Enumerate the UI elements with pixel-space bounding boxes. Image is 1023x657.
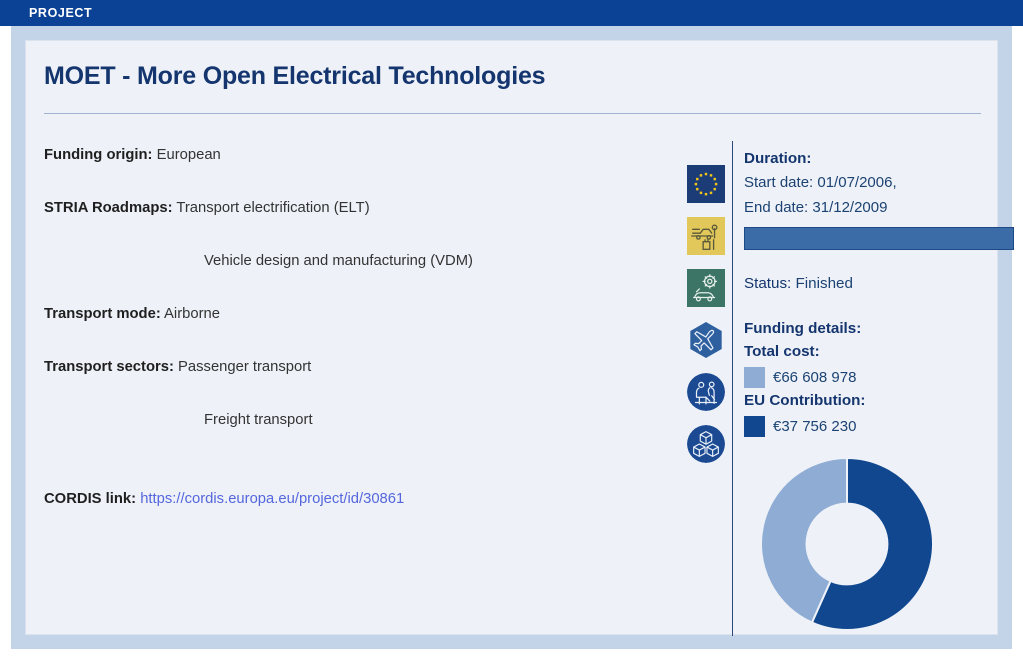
legend-row-eu-contribution: €37 756 230 xyxy=(744,414,994,438)
vehicle-design-icon xyxy=(687,269,725,307)
eu-contribution-value: €37 756 230 xyxy=(773,418,856,435)
duration-end-date: End date: 31/12/2009 xyxy=(744,195,994,220)
funding-donut-chart xyxy=(753,456,943,636)
detail-value: European xyxy=(157,147,221,163)
eu-contribution-label: EU Contribution: xyxy=(744,389,994,412)
detail-label: Funding origin: xyxy=(44,147,152,163)
cordis-link-label: CORDIS link: xyxy=(44,491,136,507)
detail-value: Passenger transport xyxy=(178,359,311,375)
detail-row-stria-roadmaps: STRIA Roadmaps: Transport electrificatio… xyxy=(44,200,689,253)
donut-chart-svg xyxy=(753,456,943,636)
detail-row-transport-sectors: Transport sectors: Passenger transport xyxy=(44,359,689,412)
duration-start-date: Start date: 01/07/2006, xyxy=(744,170,994,195)
airplane-icon xyxy=(687,321,725,359)
project-details-list: Funding origin: European STRIA Roadmaps:… xyxy=(44,147,689,465)
icon-cell-vehicle-design xyxy=(681,267,727,319)
legend-row-total-cost: €66 608 978 xyxy=(744,365,994,389)
icon-cell-passenger-transport xyxy=(681,371,727,423)
detail-row-transport-sectors-secondary: Freight transport xyxy=(44,412,689,465)
freight-transport-icon xyxy=(687,425,725,463)
project-card-page: PROJECT MOET - More Open Electrical Tech… xyxy=(0,0,1023,657)
summary-column: Duration: Start date: 01/07/2006, End da… xyxy=(744,147,994,438)
transport-electrification-icon xyxy=(687,217,725,255)
status-label: Status: xyxy=(744,275,791,292)
detail-label: STRIA Roadmaps: xyxy=(44,200,173,216)
detail-label: Transport sectors: xyxy=(44,359,174,375)
total-cost-swatch xyxy=(744,367,765,388)
detail-value: Freight transport xyxy=(204,412,313,428)
status-row: Status: Finished xyxy=(744,272,994,295)
detail-row-transport-mode: Transport mode: Airborne xyxy=(44,306,689,359)
cordis-link-url[interactable]: https://cordis.europa.eu/project/id/3086… xyxy=(140,491,404,507)
icon-cell-transport-electrification xyxy=(681,215,727,267)
card-outer-frame: MOET - More Open Electrical Technologies… xyxy=(11,26,1012,649)
icon-cell-airborne xyxy=(681,319,727,371)
detail-value: Vehicle design and manufacturing (VDM) xyxy=(204,253,473,269)
duration-progress-bar xyxy=(744,227,1014,250)
duration-progress-fill xyxy=(745,228,1013,249)
page-title: MOET - More Open Electrical Technologies xyxy=(44,62,545,91)
detail-row-stria-roadmaps-secondary: Vehicle design and manufacturing (VDM) xyxy=(44,253,689,306)
cordis-link-row: CORDIS link: https://cordis.europa.eu/pr… xyxy=(44,491,404,507)
funding-details-heading: Funding details: xyxy=(744,317,994,340)
header-label: PROJECT xyxy=(29,6,92,20)
detail-row-funding-origin: Funding origin: European xyxy=(44,147,689,200)
duration-heading: Duration: xyxy=(744,147,994,170)
status-value: Finished xyxy=(796,275,853,292)
title-divider xyxy=(44,113,981,114)
detail-value: Transport electrification (ELT) xyxy=(176,200,369,216)
eu-flag-icon xyxy=(687,165,725,203)
icon-cell-freight-transport xyxy=(681,423,727,475)
detail-label: Transport mode: xyxy=(44,306,161,322)
column-divider xyxy=(732,141,733,636)
eu-contribution-swatch xyxy=(744,416,765,437)
passenger-transport-icon xyxy=(687,373,725,411)
icon-cell-funding-origin xyxy=(681,163,727,215)
detail-value: Airborne xyxy=(164,306,220,322)
card-panel: MOET - More Open Electrical Technologies… xyxy=(25,40,998,635)
total-cost-value: €66 608 978 xyxy=(773,369,856,386)
top-header-bar: PROJECT xyxy=(0,0,1023,26)
total-cost-label: Total cost: xyxy=(744,340,994,363)
